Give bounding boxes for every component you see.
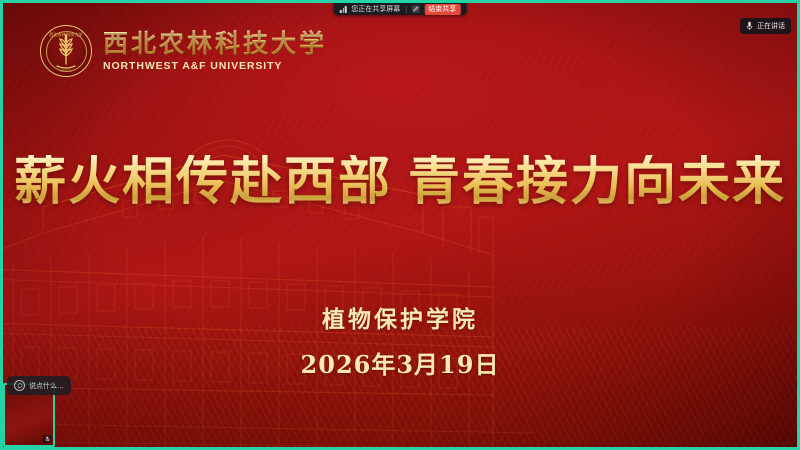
university-logo: 西北农林科技大学 NWAFU 西北农林科技大学 NORTHWEST A&F UN… [40,25,327,77]
annotate-pencil-icon[interactable] [411,5,419,13]
wheat-emblem-icon: 西北农林科技大学 NWAFU [40,25,92,77]
university-name-cn: 西北农林科技大学 [103,30,327,58]
slide-date: 2026年3月19日 [3,345,797,380]
microphone-muted-icon [43,435,51,443]
slide-subtitle: 植物保护学院 [3,300,797,334]
headline-part-1: 薪火相传赴西部 [14,152,392,212]
chat-input-chip[interactable]: 说点什么... [7,376,71,395]
screen-share-toolbar[interactable]: 您正在共享屏幕 结束共享 [334,3,467,15]
svg-text:NWAFU: NWAFU [60,69,71,73]
headline-part-2: 青春接力向未来 [408,152,786,212]
toolbar-divider [405,6,406,13]
svg-text:西北农林科技大学: 西北农林科技大学 [49,31,83,38]
university-name-en: NORTHWEST A&F UNIVERSITY [103,60,327,72]
speaking-indicator[interactable]: 正在讲话 [740,18,791,34]
presentation-slide: 西北农林科技大学 NWAFU 西北农林科技大学 NORTHWEST A&F UN… [3,3,797,447]
slide-headline: 薪火相传赴西部青春接力向未来 [3,155,797,210]
shared-screen-frame: 西北农林科技大学 NWAFU 西北农林科技大学 NORTHWEST A&F UN… [0,0,800,450]
end-share-button[interactable]: 结束共享 [424,4,460,15]
share-status-text: 您正在共享屏幕 [351,4,400,14]
comment-circle-icon [14,380,25,391]
signal-bars-icon [340,6,347,13]
microphone-icon [746,21,753,31]
chat-input-placeholder: 说点什么... [29,381,64,391]
speaking-participant-name: 正在讲话 [757,21,785,31]
